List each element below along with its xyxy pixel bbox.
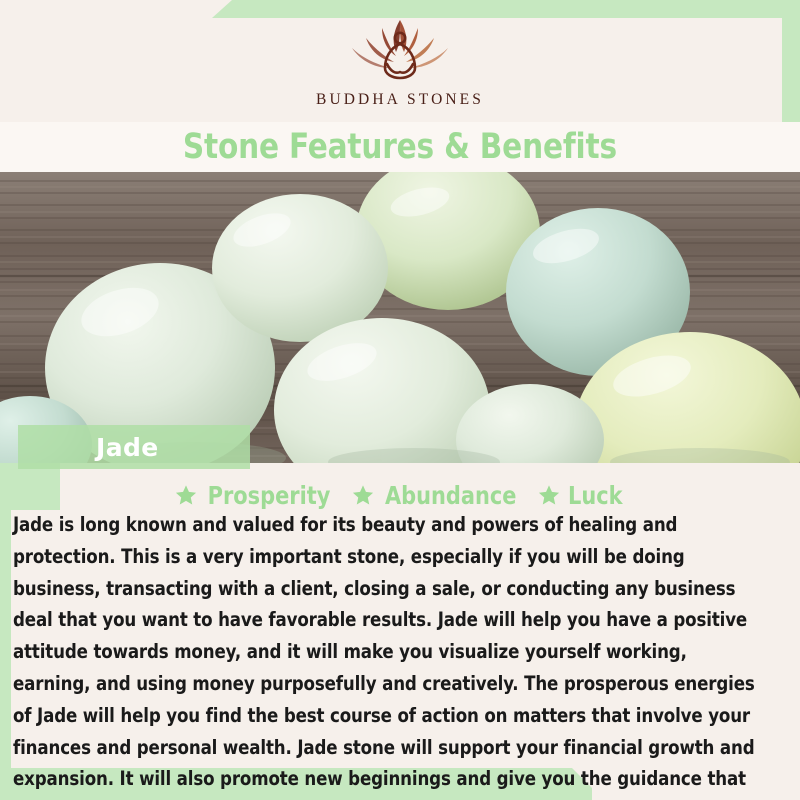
stone-description: Jade is long known and valued for its be… bbox=[13, 509, 757, 800]
star-icon bbox=[538, 484, 560, 506]
benefit-item-prosperity: Prosperity bbox=[175, 481, 335, 510]
poster-root: BUDDHA STONES Stone Features & Benefits bbox=[0, 0, 800, 800]
stone-photo bbox=[0, 172, 800, 463]
brand-header: BUDDHA STONES bbox=[0, 0, 800, 122]
title-bar: Stone Features & Benefits bbox=[0, 122, 800, 172]
stone-name: Jade bbox=[96, 433, 159, 462]
lotus-meditation-icon bbox=[340, 14, 460, 86]
stone-name-banner: Jade bbox=[18, 425, 250, 469]
decorative-rail-left bbox=[0, 500, 11, 776]
benefit-label-luck: Luck bbox=[568, 481, 623, 510]
benefit-item-luck: Luck bbox=[538, 481, 625, 510]
brand-name: BUDDHA STONES bbox=[316, 91, 484, 109]
benefit-label-abundance: Abundance bbox=[385, 481, 517, 510]
star-icon bbox=[352, 484, 374, 506]
page-title: Stone Features & Benefits bbox=[183, 127, 617, 167]
star-icon bbox=[175, 484, 197, 506]
benefit-item-abundance: Abundance bbox=[352, 481, 521, 510]
benefits-row: Prosperity Abundance Luck bbox=[0, 478, 800, 512]
benefit-label-prosperity: Prosperity bbox=[208, 481, 331, 510]
